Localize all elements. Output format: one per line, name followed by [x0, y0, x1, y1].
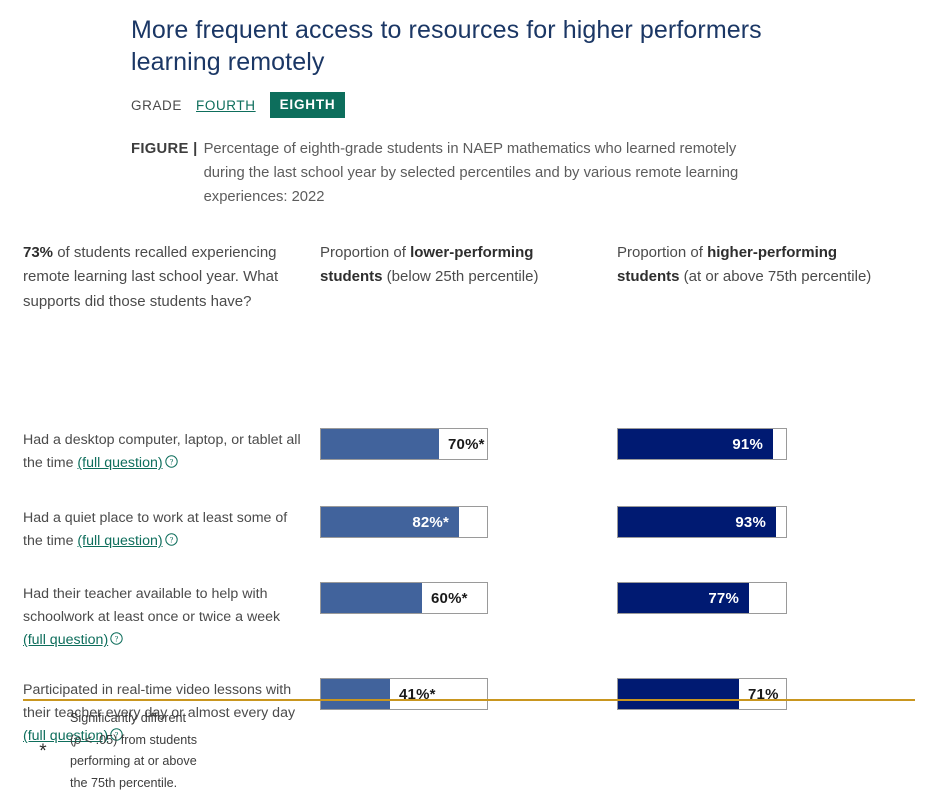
question-mark-circle-icon[interactable]: ?: [110, 630, 123, 653]
full-question-link[interactable]: (full question): [77, 533, 162, 549]
bar-fill: [321, 429, 439, 459]
figure-header: More frequent access to resources for hi…: [0, 0, 937, 118]
col-lower-post: (below 25th percentile): [383, 268, 539, 285]
intro-rest: of students recalled experiencing remote…: [23, 244, 278, 310]
full-question-link[interactable]: (full question): [23, 632, 108, 648]
row-question-cell: Had their teacher available to help with…: [23, 580, 320, 653]
grade-label: GRADE: [131, 98, 182, 113]
bar-value-label: 93%: [735, 507, 766, 537]
bar-value-label: 77%: [708, 583, 739, 613]
grid-header-row: 73% of students recalled experiencing re…: [23, 241, 915, 314]
footnote-line3: performing at or above: [70, 754, 197, 768]
page-title: More frequent access to resources for hi…: [131, 14, 821, 78]
bar-value-label: 60%*: [431, 583, 468, 613]
bar-track: 41%*: [320, 678, 488, 710]
row-bar-higher: 93%: [617, 504, 915, 538]
bar-track: 82%*: [320, 506, 488, 538]
footnote-line2-post: < .05) from students: [81, 733, 197, 747]
column-header-higher: Proportion of higher-performing students…: [617, 241, 915, 290]
row-bar-lower: 70%*: [320, 426, 617, 460]
full-question-link[interactable]: (full question): [77, 455, 162, 471]
intro-cell: 73% of students recalled experiencing re…: [23, 241, 320, 314]
bar-value-label: 91%: [732, 429, 763, 459]
svg-text:?: ?: [169, 536, 173, 545]
intro-text: 73% of students recalled experiencing re…: [23, 241, 302, 314]
row-bar-higher: 71%: [617, 676, 915, 710]
table-row: Had their teacher available to help with…: [23, 580, 915, 653]
footnote-line1: Significantly different: [70, 711, 186, 725]
bar-track: 71%: [617, 678, 787, 710]
row-bar-higher: 91%: [617, 426, 915, 460]
table-row: Had a desktop computer, laptop, or table…: [23, 426, 915, 476]
bar-value-label: 82%*: [412, 507, 449, 537]
question-mark-circle-icon[interactable]: ?: [165, 531, 178, 554]
row-bar-higher: 77%: [617, 580, 915, 614]
row-question-cell: Had a desktop computer, laptop, or table…: [23, 426, 320, 476]
col-higher-pre: Proportion of: [617, 244, 707, 261]
row-question-text: Had their teacher available to help with…: [23, 580, 302, 653]
question-mark-circle-icon[interactable]: ?: [165, 453, 178, 476]
grade-option-eighth[interactable]: EIGHTH: [270, 92, 346, 118]
bar-fill: [321, 679, 390, 709]
row-bar-lower: 60%*: [320, 580, 617, 614]
svg-text:?: ?: [169, 458, 173, 467]
footnote-line4: the 75th percentile.: [70, 776, 177, 790]
row-bar-lower: 82%*: [320, 504, 617, 538]
grade-selector: GRADE FOURTH EIGHTH: [131, 92, 937, 118]
table-row: Had a quiet place to work at least some …: [23, 504, 915, 554]
bar-track: 93%: [617, 506, 787, 538]
row-question-label: Had their teacher available to help with…: [23, 586, 280, 625]
footnote-divider: [23, 699, 915, 701]
footnote: * Significantly different (p < .05) from…: [36, 708, 197, 795]
figure-caption-key: FIGURE |: [131, 138, 198, 210]
bar-value-label: 70%*: [448, 429, 485, 459]
row-question-cell: Had a quiet place to work at least some …: [23, 504, 320, 554]
figure-caption: FIGURE | Percentage of eighth-grade stud…: [131, 138, 751, 210]
footnote-text: Significantly different (p < .05) from s…: [70, 708, 197, 795]
column-header-lower: Proportion of lower-performing students …: [320, 241, 617, 290]
svg-text:?: ?: [115, 635, 119, 644]
row-bar-lower: 41%*: [320, 676, 617, 710]
bar-track: 60%*: [320, 582, 488, 614]
bar-fill: [321, 583, 422, 613]
row-question-text: Had a desktop computer, laptop, or table…: [23, 426, 302, 476]
col-lower-pre: Proportion of: [320, 244, 410, 261]
bar-fill: [618, 679, 739, 709]
bar-value-label: 41%*: [399, 679, 436, 709]
footnote-marker: *: [36, 742, 50, 761]
figure-grid: 73% of students recalled experiencing re…: [23, 241, 915, 314]
intro-stat: 73%: [23, 244, 53, 261]
row-question-text: Had a quiet place to work at least some …: [23, 504, 302, 554]
col-higher-post: (at or above 75th percentile): [680, 268, 872, 285]
figure-caption-text: Percentage of eighth-grade students in N…: [198, 138, 751, 210]
bar-value-label: 71%: [748, 679, 779, 709]
bar-track: 70%*: [320, 428, 488, 460]
bar-track: 77%: [617, 582, 787, 614]
bar-track: 91%: [617, 428, 787, 460]
grade-option-fourth[interactable]: FOURTH: [194, 97, 258, 114]
